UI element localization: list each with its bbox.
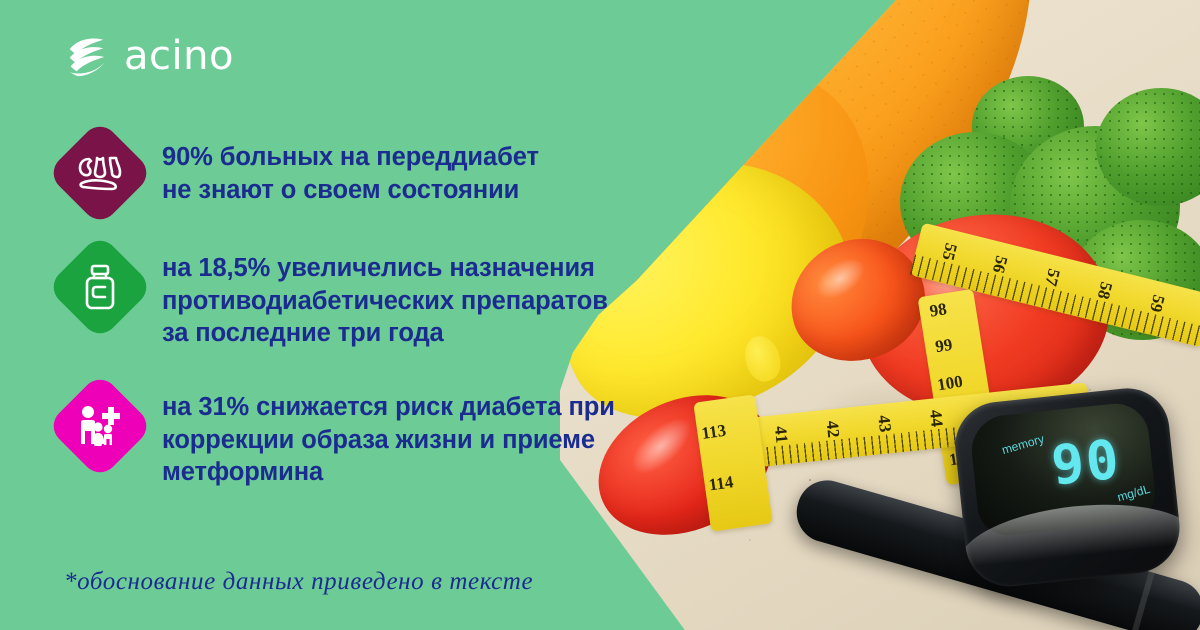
stat-text: на 18,5% увеличелись назначения противод… <box>162 247 608 350</box>
stat-text: на 31% снижается риск диабета при коррек… <box>162 386 615 489</box>
medicine-vial-glyph <box>81 264 119 310</box>
stat-text: 90% больных на переддиабет не знают о св… <box>162 133 539 206</box>
stat-item-prescriptions-growth: на 18,5% увеличелись назначения противод… <box>62 247 622 350</box>
family-health-glyph <box>77 404 123 448</box>
stat-item-prediabetes-awareness: 90% больных на переддиабет не знают о св… <box>62 133 622 211</box>
brand-name: acino <box>124 36 234 76</box>
footnote-text: *обоснование данных приведено в тексте <box>64 568 533 596</box>
pancreas-organ-icon <box>46 119 153 226</box>
family-health-icon <box>46 372 153 479</box>
content-layer: acino 90% больных на переддиабет не знаю… <box>0 0 1200 630</box>
infographic-canvas: 55 56 57 58 59 98 99 100 101 102 41 42 4… <box>0 0 1200 630</box>
stats-list: 90% больных на переддиабет не знают о св… <box>62 133 622 525</box>
stat-item-lifestyle-risk-reduction: на 31% снижается риск диабета при коррек… <box>62 386 622 489</box>
pancreas-organ-glyph <box>77 153 123 193</box>
brand-logo[interactable]: acino <box>64 33 234 79</box>
medicine-vial-icon <box>46 233 153 340</box>
acino-wave-mark-icon <box>64 33 110 79</box>
